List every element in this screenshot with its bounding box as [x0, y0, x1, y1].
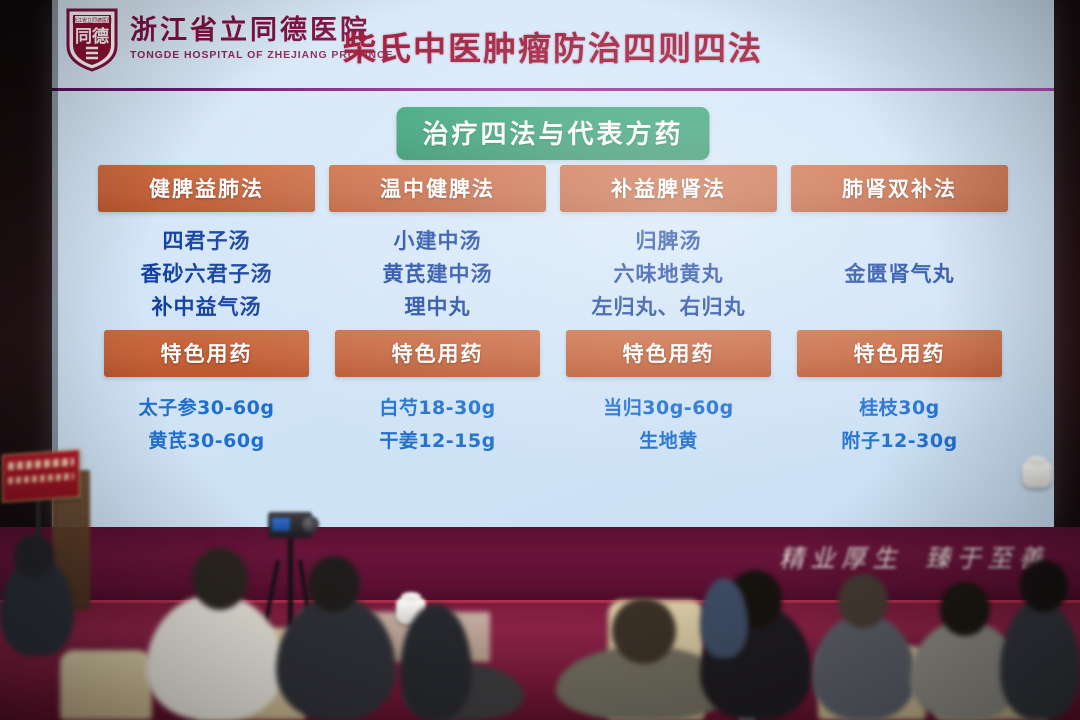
special-drug-tag: 特色用药 [566, 330, 771, 377]
dose-item: 附子12-30g [841, 426, 957, 453]
dose-item: 当归30g-60g [603, 393, 733, 420]
special-drug-label: 特色用药 [623, 342, 715, 366]
formula-item: 黄芪建中汤 [383, 258, 493, 288]
method-label: 补益脾肾法 [611, 177, 726, 201]
method-tag: 肺肾双补法 [791, 165, 1008, 212]
formula-item: 归脾汤 [636, 225, 702, 255]
side-banner-text-line-2 [8, 473, 74, 485]
special-drug-label: 特色用药 [854, 342, 946, 366]
calligraphy-phrase-1: 精业厚生 [779, 539, 903, 575]
method-column: 温中健脾法 小建中汤 黄芪建中汤 理中丸 特色用药 白芍18-30g 干姜12-… [329, 165, 546, 489]
formula-list: 小建中汤 黄芪建中汤 理中丸 [329, 212, 546, 330]
audience-head [940, 582, 990, 636]
dose-item: 生地黄 [639, 426, 698, 453]
method-tag: 温中健脾法 [329, 165, 546, 212]
dose-item: 黄芪30-60g [148, 426, 264, 453]
formula-item: 香砂六君子汤 [141, 258, 273, 288]
audience-head [612, 598, 676, 664]
formula-item: 六味地黄丸 [614, 258, 724, 288]
tripod-leg [288, 538, 293, 630]
projection-screen: 浙江省立同德医院 同德 浙江省立同德医院 TONGDE HOSPITAL OF … [52, 0, 1054, 527]
audience-head [14, 534, 54, 578]
camera-lcd-screen [272, 518, 290, 531]
method-label: 温中健脾法 [380, 177, 495, 201]
formula-list: 金匮肾气丸 [791, 212, 1008, 330]
dose-item: 白芍18-30g [379, 393, 495, 420]
video-camera [268, 512, 312, 538]
stage-calligraphy: 精业厚生 臻于至善 [764, 528, 1064, 586]
conference-hall-photo: 浙江省立同德医院 同德 浙江省立同德医院 TONGDE HOSPITAL OF … [0, 0, 1080, 720]
chair [60, 650, 152, 720]
formula-item: 小建中汤 [394, 225, 482, 255]
presentation-slide: 浙江省立同德医院 同德 浙江省立同德医院 TONGDE HOSPITAL OF … [52, 0, 1054, 527]
method-tag: 补益脾肾法 [560, 165, 777, 212]
section-banner-label: 治疗四法与代表方药 [422, 120, 683, 150]
formula-item: 理中丸 [405, 291, 471, 321]
special-drug-tag: 特色用药 [797, 330, 1002, 377]
dose-item: 太子参30-60g [139, 393, 275, 420]
dose-list: 白芍18-30g 干姜12-15g [329, 377, 546, 489]
slide-title: 柴氏中医肿瘤防治四则四法 [52, 22, 1054, 70]
special-drug-label: 特色用药 [161, 342, 253, 366]
formula-item: 补中益气汤 [152, 291, 262, 321]
screen-left-edge [52, 0, 58, 527]
camera-lens-icon [302, 516, 319, 533]
side-banner [2, 449, 80, 502]
teacup [1022, 462, 1052, 488]
dose-item: 桂枝30g [859, 393, 940, 420]
header-divider [52, 88, 1054, 91]
audience-head [308, 556, 360, 612]
formula-list: 四君子汤 香砂六君子汤 补中益气汤 [98, 212, 315, 330]
special-drug-tag: 特色用药 [335, 330, 540, 377]
formula-item: 金匮肾气丸 [845, 258, 955, 288]
dose-item: 干姜12-15g [379, 426, 495, 453]
dose-list: 当归30g-60g 生地黄 [560, 377, 777, 489]
special-drug-tag: 特色用药 [104, 330, 309, 377]
side-banner-text-line-1 [8, 458, 74, 471]
dose-list: 太子参30-60g 黄芪30-60g [98, 377, 315, 489]
method-column: 补益脾肾法 归脾汤 六味地黄丸 左归丸、右归丸 特色用药 当归30g-60g 生… [560, 165, 777, 489]
formula-item: 左归丸、右归丸 [592, 291, 746, 321]
method-column: 肺肾双补法 金匮肾气丸 特色用药 桂枝30g 附子12-30g [791, 165, 1008, 489]
formula-item: 四君子汤 [163, 225, 251, 255]
special-drug-label: 特色用药 [392, 342, 484, 366]
method-tag: 健脾益肺法 [98, 165, 315, 212]
method-label: 健脾益肺法 [149, 177, 264, 201]
dose-list: 桂枝30g 附子12-30g [791, 377, 1008, 489]
audience-head [192, 548, 248, 610]
audience-head [838, 574, 888, 628]
formula-list: 归脾汤 六味地黄丸 左归丸、右归丸 [560, 212, 777, 330]
section-banner: 治疗四法与代表方药 [396, 107, 709, 160]
hall-wall-right [1050, 0, 1080, 560]
method-columns: 健脾益肺法 四君子汤 香砂六君子汤 补中益气汤 特色用药 太子参30-60g 黄… [98, 165, 1008, 489]
audience-head [1020, 560, 1068, 612]
method-label: 肺肾双补法 [842, 177, 957, 201]
method-column: 健脾益肺法 四君子汤 香砂六君子汤 补中益气汤 特色用药 太子参30-60g 黄… [98, 165, 315, 489]
